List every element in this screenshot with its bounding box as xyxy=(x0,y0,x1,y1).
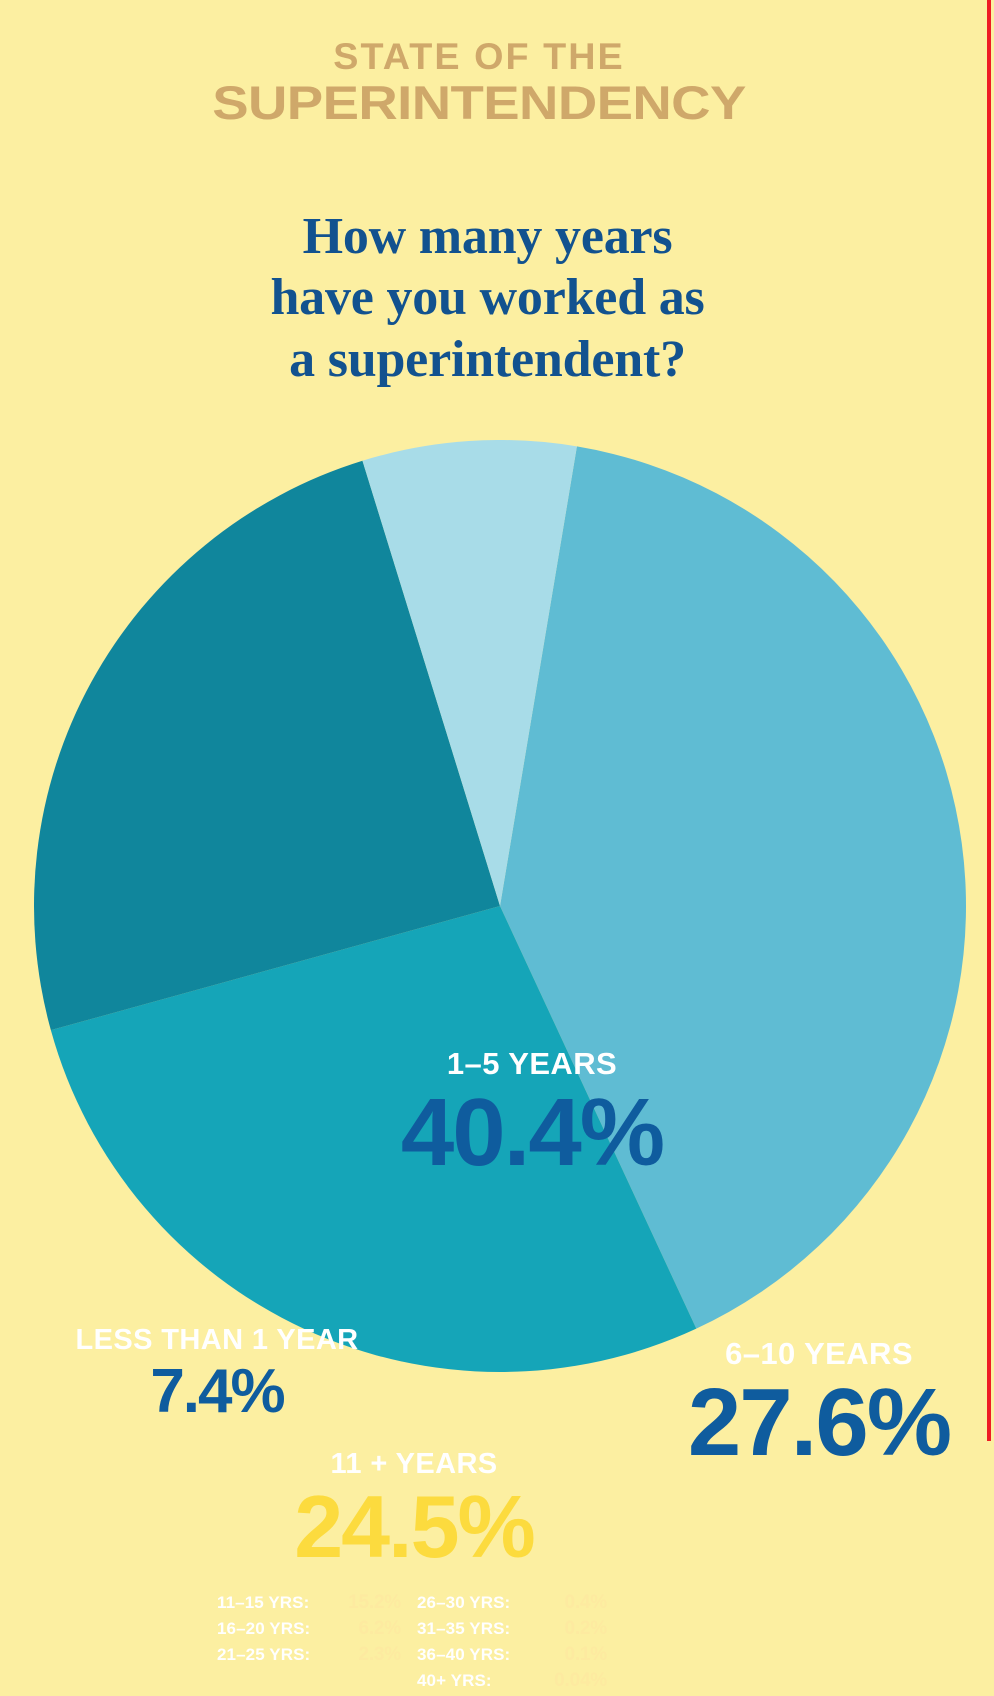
slice-value-6-10-years: 27.6% xyxy=(619,1375,994,1471)
breakdown-row-value: 2.3% xyxy=(337,1644,401,1666)
slice-value-1-5-years: 40.4% xyxy=(282,1085,782,1181)
breakdown-row-value: 0.1% xyxy=(535,1644,607,1666)
breakdown-row: 26–30 YRS:0.4% xyxy=(417,1592,607,1618)
breakdown-row: 21–25 YRS:2.3% xyxy=(217,1644,401,1670)
page-title-line-2: have you worked as xyxy=(0,267,975,328)
breakdown-row-value: 0.04% xyxy=(535,1670,607,1692)
breakdown-row-label: 16–20 YRS: xyxy=(217,1619,337,1639)
slice-category-6-10-years: 6–10 YEARS xyxy=(619,1338,994,1369)
slice-category-less-than-1-year: LESS THAN 1 YEAR xyxy=(52,1326,382,1355)
brand-lockup: STATE OF THE SUPERINTENDENCY xyxy=(0,38,958,126)
slice-label-6-10-years: 6–10 YEARS 27.6% xyxy=(619,1338,994,1471)
slice-label-1-5-years: 1–5 YEARS 40.4% xyxy=(282,1048,782,1181)
breakdown-row-label: 21–25 YRS: xyxy=(217,1645,337,1665)
breakdown-row-value: 6.2% xyxy=(337,1618,401,1640)
brand-line-bottom: SUPERINTENDENCY xyxy=(0,79,994,126)
pie-chart-svg xyxy=(34,440,966,1372)
slice-label-11-plus-years: 11 + YEARS 24.5% xyxy=(194,1450,634,1571)
breakdown-row-value: 15.2% xyxy=(337,1592,401,1614)
slice-label-less-than-1-year: LESS THAN 1 YEAR 7.4% xyxy=(52,1326,382,1423)
breakdown-table: 11–15 YRS:15.2%16–20 YRS:6.2%21–25 YRS:2… xyxy=(217,1592,607,1696)
brand-line-top: STATE OF THE xyxy=(0,38,968,75)
breakdown-row-label: 40+ YRS: xyxy=(417,1671,535,1691)
breakdown-row-label: 11–15 YRS: xyxy=(217,1593,337,1613)
breakdown-row-value: 0.4% xyxy=(535,1592,607,1614)
slice-category-1-5-years: 1–5 YEARS xyxy=(282,1048,782,1079)
breakdown-row-label: 26–30 YRS: xyxy=(417,1593,535,1613)
breakdown-row: 36–40 YRS:0.1% xyxy=(417,1644,607,1670)
page-title: How many years have you worked as a supe… xyxy=(0,206,975,390)
slice-category-11-plus-years: 11 + YEARS xyxy=(194,1450,634,1479)
breakdown-row: 31–35 YRS:0.2% xyxy=(417,1618,607,1644)
slice-value-less-than-1-year: 7.4% xyxy=(52,1361,382,1423)
breakdown-row: 11–15 YRS:15.2% xyxy=(217,1592,401,1618)
breakdown-row-value: 0.2% xyxy=(535,1618,607,1640)
breakdown-row-label: 31–35 YRS: xyxy=(417,1619,535,1639)
page-title-line-3: a superintendent? xyxy=(0,329,975,390)
page-title-line-1: How many years xyxy=(0,206,975,267)
breakdown-column-right: 26–30 YRS:0.4%31–35 YRS:0.2%36–40 YRS:0.… xyxy=(417,1592,607,1696)
breakdown-column-left: 11–15 YRS:15.2%16–20 YRS:6.2%21–25 YRS:2… xyxy=(217,1592,401,1696)
breakdown-row: 40+ YRS:0.04% xyxy=(417,1670,607,1696)
breakdown-row: 16–20 YRS:6.2% xyxy=(217,1618,401,1644)
right-edge-rule xyxy=(987,0,991,1441)
breakdown-row-label: 36–40 YRS: xyxy=(417,1645,535,1665)
pie-chart: 1–5 YEARS 40.4% 6–10 YEARS 27.6% LESS TH… xyxy=(34,440,966,1372)
slice-value-11-plus-years: 24.5% xyxy=(194,1483,634,1571)
